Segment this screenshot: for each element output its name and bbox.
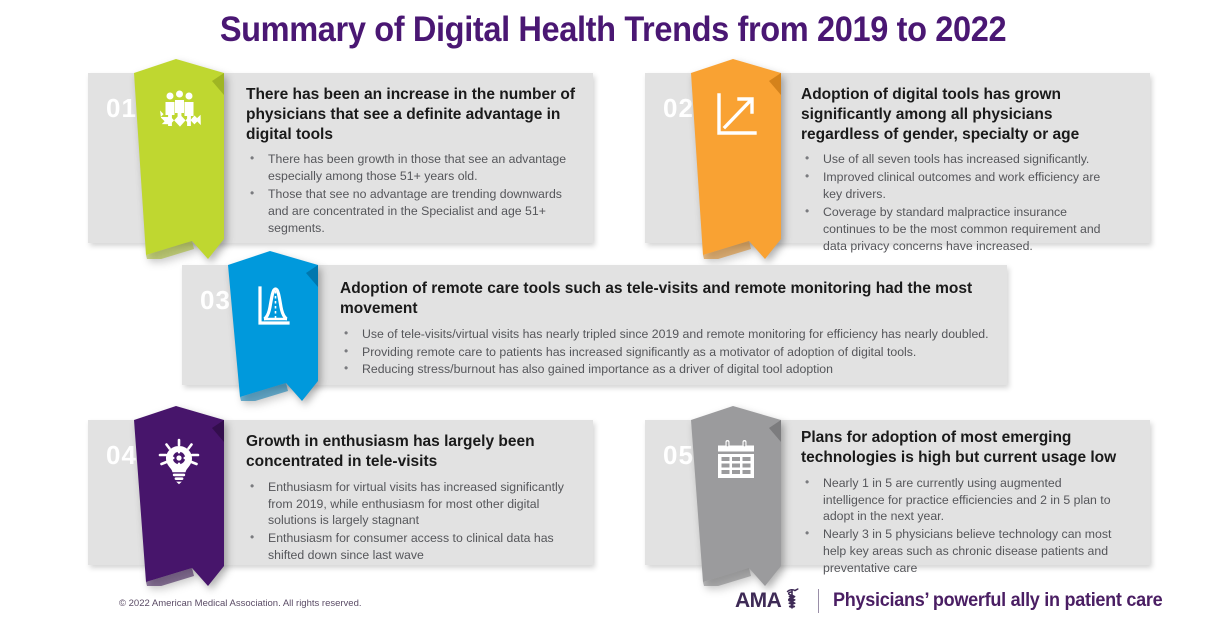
list-item: Improved clinical outcomes and work effi…	[801, 169, 1121, 203]
ama-logo-text: AMA	[735, 589, 781, 613]
calendar-icon	[710, 436, 762, 488]
card-body-01: There has been an increase in the number…	[246, 85, 576, 238]
card-body-03: Adoption of remote care tools such as te…	[340, 279, 1000, 379]
lightbulb-gear-icon	[153, 436, 205, 488]
list-item: Enthusiasm for consumer access to clinic…	[246, 530, 571, 564]
card-body-05: Plans for adoption of most emerging tech…	[801, 428, 1126, 578]
caduceus-icon	[782, 587, 802, 616]
card-number: 02	[663, 95, 694, 121]
card-bullets: Use of all seven tools has increased sig…	[801, 151, 1121, 254]
card-heading: Plans for adoption of most emerging tech…	[801, 428, 1126, 468]
card-heading: There has been an increase in the number…	[246, 85, 576, 144]
ribbon-04	[134, 406, 224, 586]
list-item: Those that see no advantage are trending…	[246, 186, 576, 237]
ribbon-03	[228, 251, 318, 401]
card-body-02: Adoption of digital tools has grown sign…	[801, 85, 1121, 256]
ribbon-05	[691, 406, 781, 586]
card-number: 04	[106, 442, 137, 468]
card-body-04: Growth in enthusiasm has largely been co…	[246, 432, 571, 565]
card-number: 03	[200, 287, 231, 313]
list-item: Nearly 1 in 5 are currently using augmen…	[801, 475, 1126, 526]
list-item: Reducing stress/burnout has also gained …	[340, 361, 1000, 378]
people-trend-icon	[153, 89, 205, 141]
ama-wordmark: AMA	[735, 587, 802, 616]
list-item: Use of all seven tools has increased sig…	[801, 151, 1121, 168]
ribbon-shape	[134, 406, 224, 586]
ribbon-02	[691, 59, 781, 259]
ribbon-01	[134, 59, 224, 259]
list-item: Nearly 3 in 5 physicians believe technol…	[801, 526, 1126, 577]
card-bullets: There has been growth in those that see …	[246, 151, 576, 236]
list-item: Providing remote care to patients has in…	[340, 344, 1000, 361]
ama-logo: AMA Physicians’ powerful ally in	[735, 586, 1180, 616]
page-title: Summary of Digital Health Trends from 20…	[43, 10, 1183, 50]
list-item: Use of tele-visits/virtual visits has ne…	[340, 326, 1000, 343]
card-number: 05	[663, 442, 694, 468]
ribbon-shape	[691, 406, 781, 586]
line-chart-up-icon	[710, 89, 762, 141]
copyright-text: © 2022 American Medical Association. All…	[119, 598, 362, 609]
card-heading: Adoption of digital tools has grown sign…	[801, 85, 1121, 144]
card-bullets: Nearly 1 in 5 are currently using augmen…	[801, 475, 1126, 577]
card-bullets: Enthusiasm for virtual visits has increa…	[246, 479, 571, 564]
bell-curve-icon	[247, 281, 299, 333]
logo-divider	[818, 589, 819, 613]
card-heading: Growth in enthusiasm has largely been co…	[246, 432, 571, 472]
list-item: Enthusiasm for virtual visits has increa…	[246, 479, 571, 530]
card-heading: Adoption of remote care tools such as te…	[340, 279, 1000, 319]
card-bullets: Use of tele-visits/virtual visits has ne…	[340, 326, 1000, 379]
list-item: There has been growth in those that see …	[246, 151, 576, 185]
card-number: 01	[106, 95, 137, 121]
ama-tagline: Physicians’ powerful ally in patient car…	[833, 590, 1162, 612]
list-item: Coverage by standard malpractice insuran…	[801, 204, 1121, 255]
